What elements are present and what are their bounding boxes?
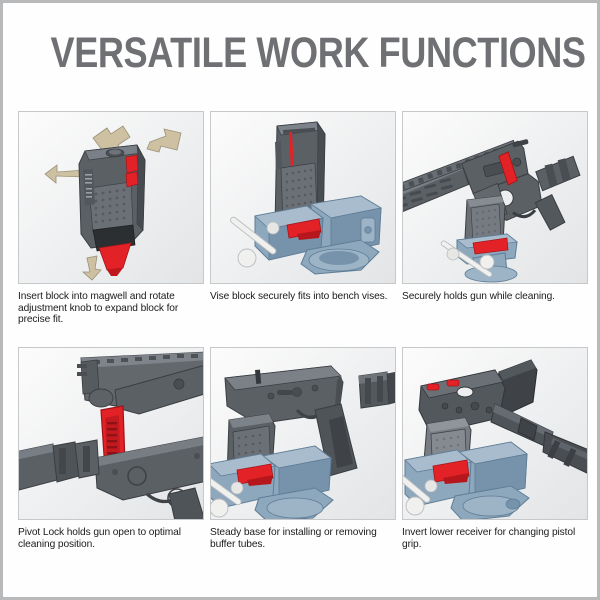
infographic-frame: VERSATILE WORK FUNCTIONS [0, 0, 600, 600]
panel-caption-6: Invert lower receiver for changing pisto… [402, 527, 585, 550]
illustration-panel-5[interactable] [210, 347, 396, 520]
vise-block-clamped-in-bench-vise-icon [211, 112, 396, 284]
panel-cell-5: Steady base for installing or removing b… [210, 347, 396, 583]
illustration-panel-4[interactable] [18, 347, 204, 520]
panel-caption-4: Pivot Lock holds gun open to optimal cle… [18, 527, 201, 550]
illustration-panel-3[interactable] [402, 111, 588, 284]
ar15-rifle-mounted-on-vise-block-icon [403, 112, 588, 284]
panel-caption-2: Vise block securely fits into bench vise… [210, 291, 393, 303]
panel-caption-3: Securely holds gun while cleaning. [402, 291, 585, 303]
lower-receiver-in-vise-with-buffer-tube-icon [211, 348, 396, 520]
illustration-panel-2[interactable] [210, 111, 396, 284]
panel-caption-1: Insert block into magwell and rotate adj… [18, 291, 201, 326]
panel-cell-3: Securely holds gun while cleaning. [402, 111, 588, 347]
illustration-panel-1[interactable] [18, 111, 204, 284]
panel-cell-4: Pivot Lock holds gun open to optimal cle… [18, 347, 204, 583]
panel-cell-6: Invert lower receiver for changing pisto… [402, 347, 588, 583]
red-pivot-lock-wedge-in-open-receiver-icon [19, 348, 204, 520]
panel-grid: Insert block into magwell and rotate adj… [18, 111, 588, 583]
page-title: VERSATILE WORK FUNCTIONS [51, 32, 550, 75]
illustration-panel-6[interactable] [402, 347, 588, 520]
inverted-lower-receiver-with-detached-pistol-grip-icon [403, 348, 588, 520]
vise-block-with-expansion-arrows-icon [19, 112, 204, 284]
panel-caption-5: Steady base for installing or removing b… [210, 527, 393, 550]
panel-cell-2: Vise block securely fits into bench vise… [210, 111, 396, 347]
panel-cell-1: Insert block into magwell and rotate adj… [18, 111, 204, 347]
